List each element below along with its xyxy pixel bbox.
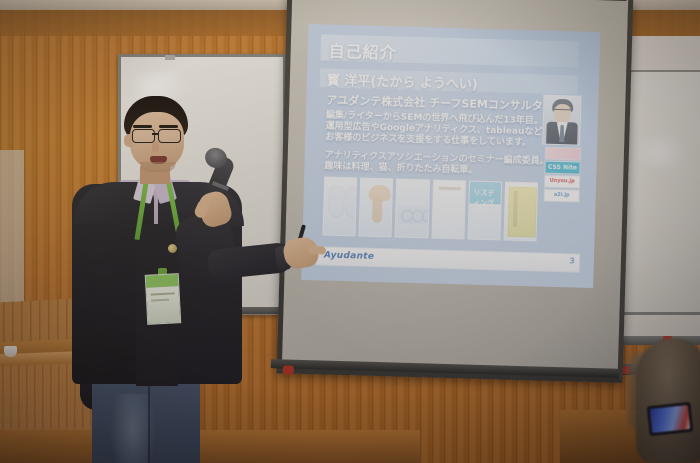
slide-page-number: 3: [569, 256, 575, 265]
slide-footer: Ayudante 3: [316, 246, 580, 272]
photo-tint: [360, 179, 393, 237]
smartphone: [647, 402, 694, 436]
photo-book-3: [503, 182, 538, 242]
slide-title-band: 自己紹介: [320, 34, 579, 67]
projector-screen: 自己紹介 寳 洋平(たから ようへい) アユダンテ株式会社 チーフSEMコンサル…: [277, 0, 623, 379]
photo-tint: [504, 183, 537, 241]
jeans-seam: [148, 378, 150, 463]
badge-color-strip: [146, 274, 179, 288]
eyebrow-right: [159, 125, 178, 128]
badge-text-line: [151, 292, 175, 295]
chin-shadow: [140, 162, 176, 172]
photo-shoes: [323, 176, 358, 236]
whiteboard-right-glare: [634, 132, 688, 172]
presenter: [40, 96, 270, 463]
photo-book-1: [431, 180, 466, 240]
presentation-photo-scene: 自己紹介 寳 洋平(たから ようへい) アユダンテ株式会社 チーフSEMコンサル…: [0, 0, 700, 463]
slide: 自己紹介 寳 洋平(たから ようへい) アユダンテ株式会社 チーフSEMコンサル…: [301, 24, 600, 288]
lapel-pin: [168, 244, 177, 253]
photo-tint: [324, 178, 357, 236]
badge-a2i: a2i.jp: [544, 189, 580, 203]
badge-unyou: Unyou.jp: [544, 175, 580, 189]
photo-cat: [359, 177, 394, 237]
audience-member: [636, 338, 700, 463]
badge-text-line: [151, 299, 169, 302]
paper-cup: [4, 346, 17, 357]
whiteboard-clip: [165, 55, 175, 60]
slide-title: 自己紹介: [328, 38, 397, 64]
badge-pink: [545, 147, 581, 161]
photo-tint: [468, 182, 501, 240]
ayudante-logo: Ayudante: [324, 251, 375, 262]
photo-tint: [432, 181, 465, 239]
slide-name-band: 寳 洋平(たから ようへい): [320, 68, 578, 94]
smartphone-screen: [650, 405, 690, 433]
nose: [152, 142, 159, 152]
screen-pull-knob: [283, 365, 294, 374]
glasses-lens-right: [158, 129, 181, 143]
eyebrow-left: [133, 125, 152, 128]
left-plaster-wall: [0, 150, 24, 310]
headshot-glasses: [554, 109, 571, 114]
badge-css-nite: CSS Nite: [544, 161, 580, 175]
photo-bicycles: [395, 179, 430, 239]
glasses-lens-left: [132, 129, 155, 143]
presenter-headshot: [542, 95, 581, 146]
name-badge: [145, 273, 182, 325]
photo-tint: [396, 180, 429, 238]
glasses-bridge: [152, 133, 159, 135]
slide-photo-strip: リスティング: [323, 176, 539, 239]
photo-book-2: リスティング: [467, 181, 502, 241]
slide-presenter-name: 寳 洋平(たから ようへい): [327, 70, 478, 93]
